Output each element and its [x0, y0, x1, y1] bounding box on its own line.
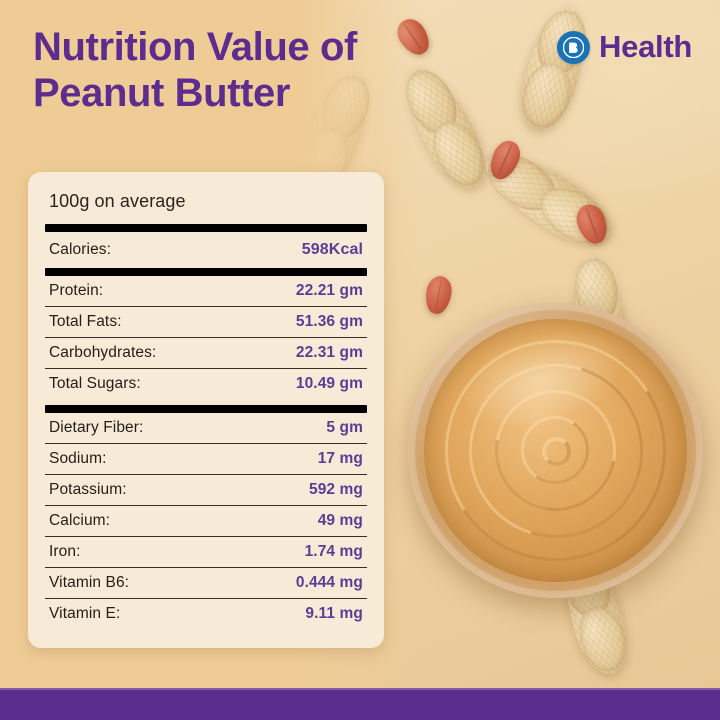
peanut-kernel-icon	[423, 274, 454, 316]
table-row: Total Fats: 51.36 gm	[45, 307, 367, 338]
peanut-butter-bowl	[408, 303, 703, 598]
row-label: Carbohydrates:	[49, 344, 156, 362]
row-value: 17 mg	[318, 450, 363, 468]
table-row: Protein: 22.21 gm	[45, 276, 367, 307]
nutrition-group-micronutrients: Dietary Fiber: 5 gm Sodium: 17 mg Potass…	[45, 413, 367, 629]
footer-band	[0, 688, 720, 720]
row-label: Dietary Fiber:	[49, 419, 143, 437]
bajaj-b-logo-icon	[557, 31, 590, 64]
row-label: Calcium:	[49, 512, 110, 530]
row-value: 5 gm	[326, 419, 363, 437]
table-row: Dietary Fiber: 5 gm	[45, 413, 367, 444]
row-label: Total Fats:	[49, 313, 122, 331]
infographic-canvas: Nutrition Value of Peanut Butter Health …	[0, 0, 720, 720]
row-value: 49 mg	[318, 512, 363, 530]
row-label: Potassium:	[49, 481, 127, 499]
table-row: Potassium: 592 mg	[45, 475, 367, 506]
nutrition-card: 100g on average Calories: 598Kcal Protei…	[28, 172, 384, 648]
nutrition-group-macronutrients: Protein: 22.21 gm Total Fats: 51.36 gm C…	[45, 276, 367, 399]
row-label: Total Sugars:	[49, 375, 141, 393]
table-row: Vitamin B6: 0.444 mg	[45, 568, 367, 599]
table-row: Total Sugars: 10.49 gm	[45, 369, 367, 399]
header: Nutrition Value of Peanut Butter Health	[0, 0, 720, 150]
divider-thick-bottom	[45, 405, 367, 413]
table-row: Carbohydrates: 22.31 gm	[45, 338, 367, 369]
brand-logo: Health	[557, 29, 692, 65]
row-label: Vitamin E:	[49, 605, 120, 623]
page-title-line-1: Nutrition Value of	[33, 25, 357, 69]
row-value: 592 mg	[309, 481, 363, 499]
page-title: Nutrition Value of Peanut Butter	[33, 24, 453, 117]
row-label: Vitamin B6:	[49, 574, 129, 592]
row-label: Iron:	[49, 543, 81, 561]
table-row: Sodium: 17 mg	[45, 444, 367, 475]
brand-name: Health	[599, 29, 692, 65]
row-label: Calories:	[49, 241, 111, 259]
row-value: 598Kcal	[302, 241, 363, 259]
row-value: 51.36 gm	[296, 313, 363, 331]
row-value: 9.11 mg	[305, 605, 363, 623]
row-value: 22.21 gm	[296, 282, 363, 300]
divider-thick-top	[45, 224, 367, 232]
serving-size-heading: 100g on average	[45, 188, 367, 224]
table-row: Calories: 598Kcal	[45, 232, 367, 268]
nutrition-group-calories: Calories: 598Kcal	[45, 232, 367, 268]
row-label: Sodium:	[49, 450, 107, 468]
row-label: Protein:	[49, 282, 103, 300]
table-row: Calcium: 49 mg	[45, 506, 367, 537]
row-value: 1.74 mg	[305, 543, 363, 561]
row-value: 0.444 mg	[296, 574, 363, 592]
divider-thick-middle	[45, 268, 367, 276]
row-value: 10.49 gm	[296, 375, 363, 393]
table-row: Vitamin E: 9.11 mg	[45, 599, 367, 629]
table-row: Iron: 1.74 mg	[45, 537, 367, 568]
row-value: 22.31 gm	[296, 344, 363, 362]
page-title-line-2: Peanut Butter	[33, 71, 290, 115]
